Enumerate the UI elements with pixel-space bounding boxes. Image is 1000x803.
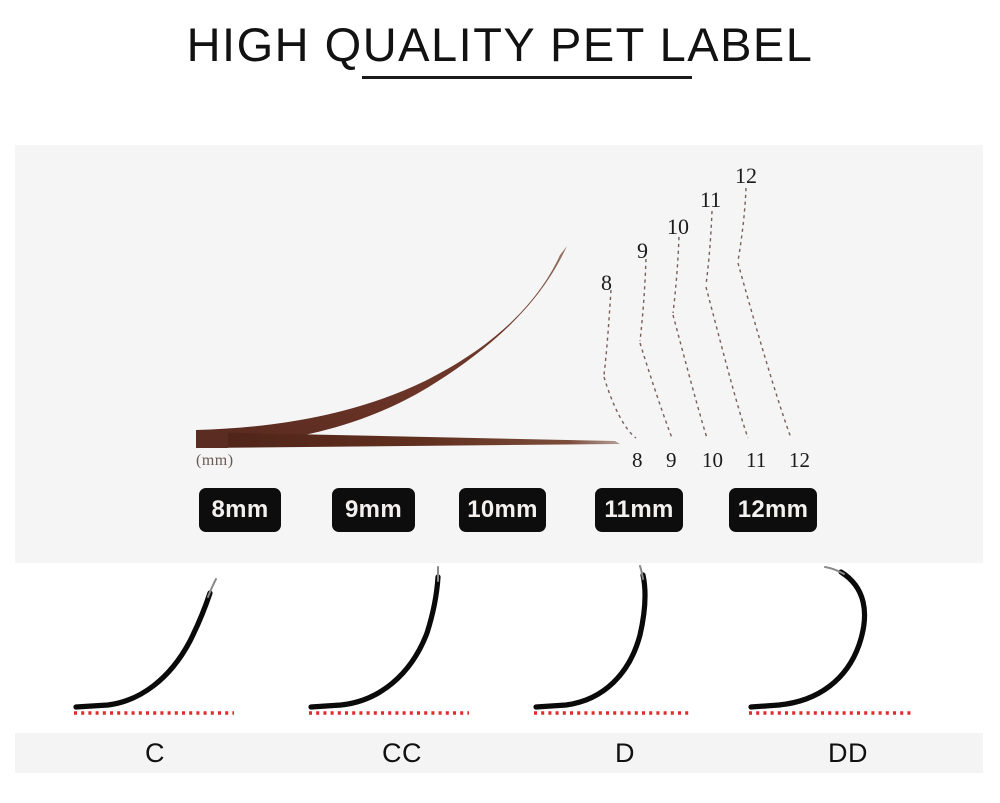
- curl-shape-dd: [723, 563, 973, 733]
- curl-shape-d: [500, 563, 750, 733]
- base-number-8: 8: [632, 450, 643, 471]
- tip-number-12: 12: [735, 165, 757, 187]
- base-number-11: 11: [746, 450, 766, 471]
- curl-shape-c: [30, 563, 280, 733]
- tip-number-8: 8: [601, 272, 612, 294]
- curl-stroke-c: [76, 593, 210, 707]
- curl-stroke-dd: [751, 572, 865, 707]
- curl-type-panel: [0, 563, 1000, 733]
- title-underline-rule: [362, 76, 692, 79]
- base-number-12: 12: [789, 450, 810, 471]
- curl-cell-dd: [723, 563, 973, 733]
- lash-root-block: [196, 430, 228, 448]
- length-badge-8mm[interactable]: 8mm: [199, 488, 281, 532]
- length-badge-11mm[interactable]: 11mm: [595, 488, 683, 532]
- page-header: HIGH QUALITY PET LABEL: [0, 18, 1000, 72]
- curl-label-d: D: [500, 733, 750, 773]
- curl-cell-cc: [277, 563, 527, 733]
- base-number-10: 10: [702, 450, 723, 471]
- curl-stroke-cc: [311, 577, 438, 707]
- length-badge-12mm[interactable]: 12mm: [729, 488, 817, 532]
- curl-cell-d: [500, 563, 750, 733]
- base-number-9: 9: [666, 450, 677, 471]
- curl-shape-cc: [277, 563, 527, 733]
- curl-cell-c: [30, 563, 280, 733]
- page-title: HIGH QUALITY PET LABEL: [0, 18, 1000, 72]
- length-badge-10mm[interactable]: 10mm: [459, 488, 546, 532]
- lower-leader-lines: [604, 263, 791, 438]
- curl-stroke-d: [536, 575, 645, 707]
- tip-number-9: 9: [637, 240, 648, 262]
- lash-flat-shape: [196, 432, 620, 448]
- curl-label-dd: DD: [723, 733, 973, 773]
- mm-unit-label: (mm): [196, 452, 234, 470]
- curl-label-cc: CC: [277, 733, 527, 773]
- curl-label-c: C: [30, 733, 280, 773]
- length-badge-9mm[interactable]: 9mm: [332, 488, 415, 532]
- lash-curve-shape: [196, 246, 567, 447]
- tip-number-10: 10: [667, 216, 689, 238]
- tip-number-11: 11: [700, 189, 721, 211]
